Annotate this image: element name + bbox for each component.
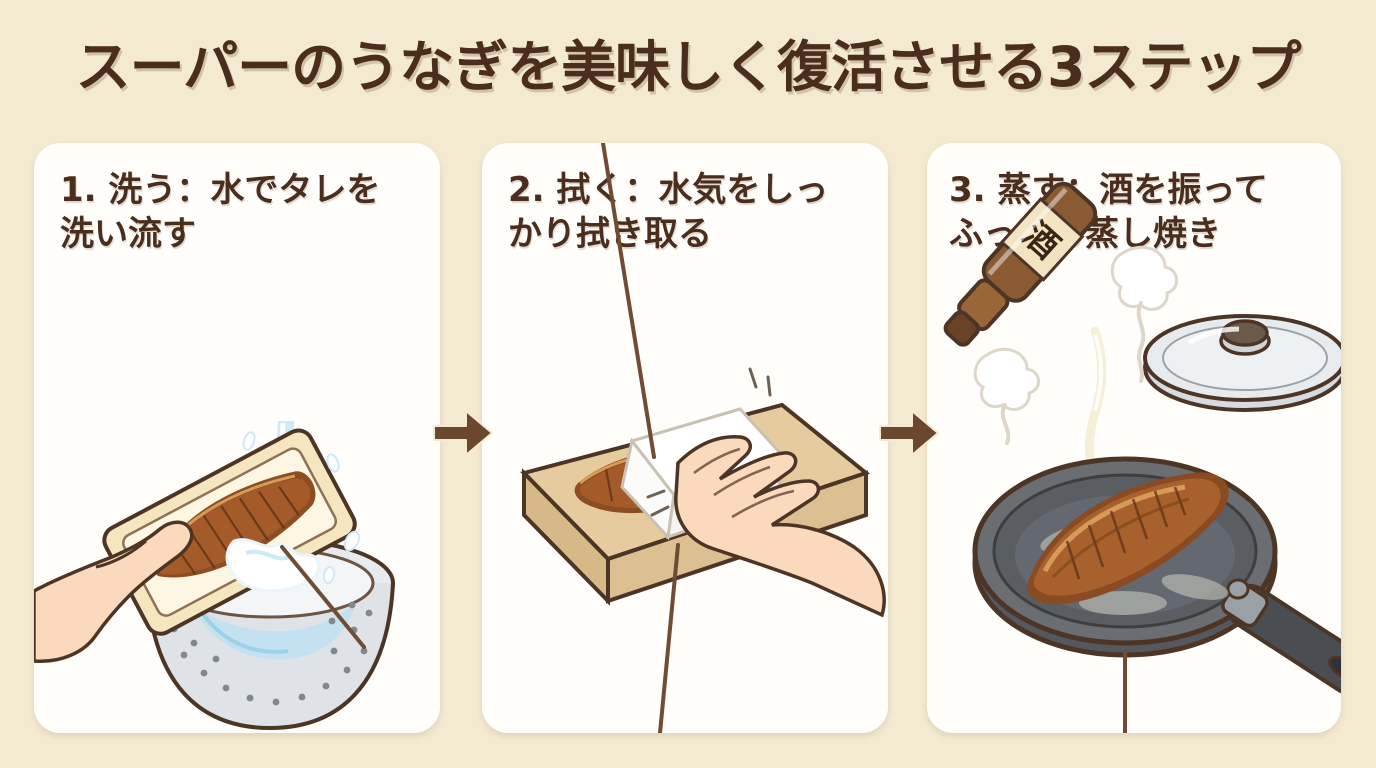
infographic-page: スーパーのうなぎを美味しく復活させる3ステップ 1. 洗う：水でタレを 洗い流す [0, 0, 1376, 768]
page-title: スーパーのうなぎを美味しく復活させる3ステップ [0, 22, 1376, 102]
step-card-2: 2. 拭く：水気をしっ かり拭き取る [482, 143, 888, 733]
step-2-title: 2. 拭く：水気をしっ かり拭き取る [508, 169, 870, 256]
step-1-title: 1. 洗う：水でタレを 洗い流す [60, 169, 422, 256]
step-card-1: 1. 洗う：水でタレを 洗い流す [34, 143, 440, 733]
step-arrow-2-to-3 [878, 408, 940, 458]
step-3-title: 3. 蒸す：酒を振って ふっくら蒸し焼き [949, 169, 1323, 256]
step-card-3: 3. 蒸す：酒を振って ふっくら蒸し焼き 酒 [927, 143, 1341, 733]
step-arrow-1-to-2 [432, 408, 494, 458]
